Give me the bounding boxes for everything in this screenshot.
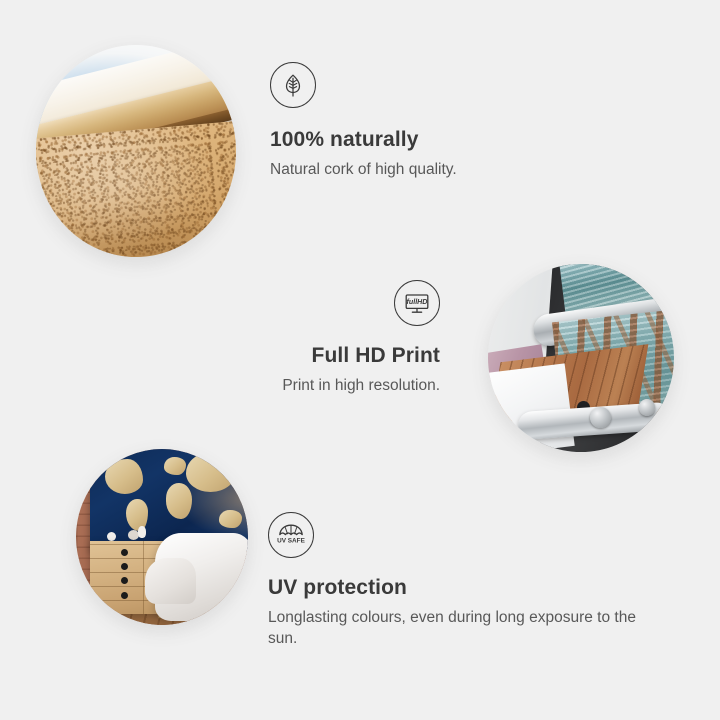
leaf-icon bbox=[270, 62, 316, 108]
feature-title: Full HD Print bbox=[282, 344, 440, 368]
photo-armchair-arm bbox=[145, 558, 197, 604]
photo-map-north-america bbox=[105, 459, 143, 494]
photo-roller-knob-left bbox=[590, 407, 610, 428]
photo-map-africa bbox=[166, 483, 192, 519]
photo-decor-object-c bbox=[128, 530, 139, 540]
full-hd-monitor-icon: fullHD bbox=[394, 280, 440, 326]
feature-natural: 100% naturally Natural cork of high qual… bbox=[270, 62, 457, 180]
photo-decor-object-a bbox=[107, 532, 116, 541]
press-photo-content bbox=[488, 264, 674, 452]
photo-map-europe bbox=[164, 457, 185, 474]
photo-cork-surface bbox=[36, 120, 236, 257]
feature-description: Natural cork of high quality. bbox=[270, 159, 457, 180]
printing-press-photo bbox=[488, 264, 674, 452]
interior-room-photo bbox=[76, 449, 248, 625]
photo-cork-shading bbox=[36, 120, 236, 257]
cork-photo-content bbox=[36, 45, 236, 257]
photo-dresser-knob bbox=[121, 563, 128, 570]
photo-dresser-knob bbox=[121, 549, 128, 556]
uv-safe-umbrella-icon: UV SAFE bbox=[268, 512, 314, 558]
feature-title: 100% naturally bbox=[270, 128, 457, 152]
photo-decor-object-b bbox=[138, 526, 146, 538]
photo-map-australia bbox=[219, 510, 242, 529]
photo-map-asia bbox=[186, 453, 237, 492]
feature-description: Longlasting colours, even during long ex… bbox=[268, 607, 640, 650]
feature-fullhd: fullHD Full HD Print Print in high resol… bbox=[282, 280, 440, 396]
feature-description: Print in high resolution. bbox=[282, 375, 440, 396]
photo-dresser-knob bbox=[121, 592, 128, 599]
feature-uv: UV SAFE UV protection Longlasting colour… bbox=[268, 512, 640, 650]
uv-safe-icon-label: UV SAFE bbox=[277, 538, 305, 545]
feature-title: UV protection bbox=[268, 576, 640, 600]
photo-dresser-divider bbox=[143, 541, 145, 615]
cork-board-photo bbox=[36, 45, 236, 257]
product-feature-board: 100% naturally Natural cork of high qual… bbox=[0, 0, 720, 720]
full-hd-icon-label: fullHD bbox=[407, 298, 428, 306]
room-photo-content bbox=[76, 449, 248, 625]
